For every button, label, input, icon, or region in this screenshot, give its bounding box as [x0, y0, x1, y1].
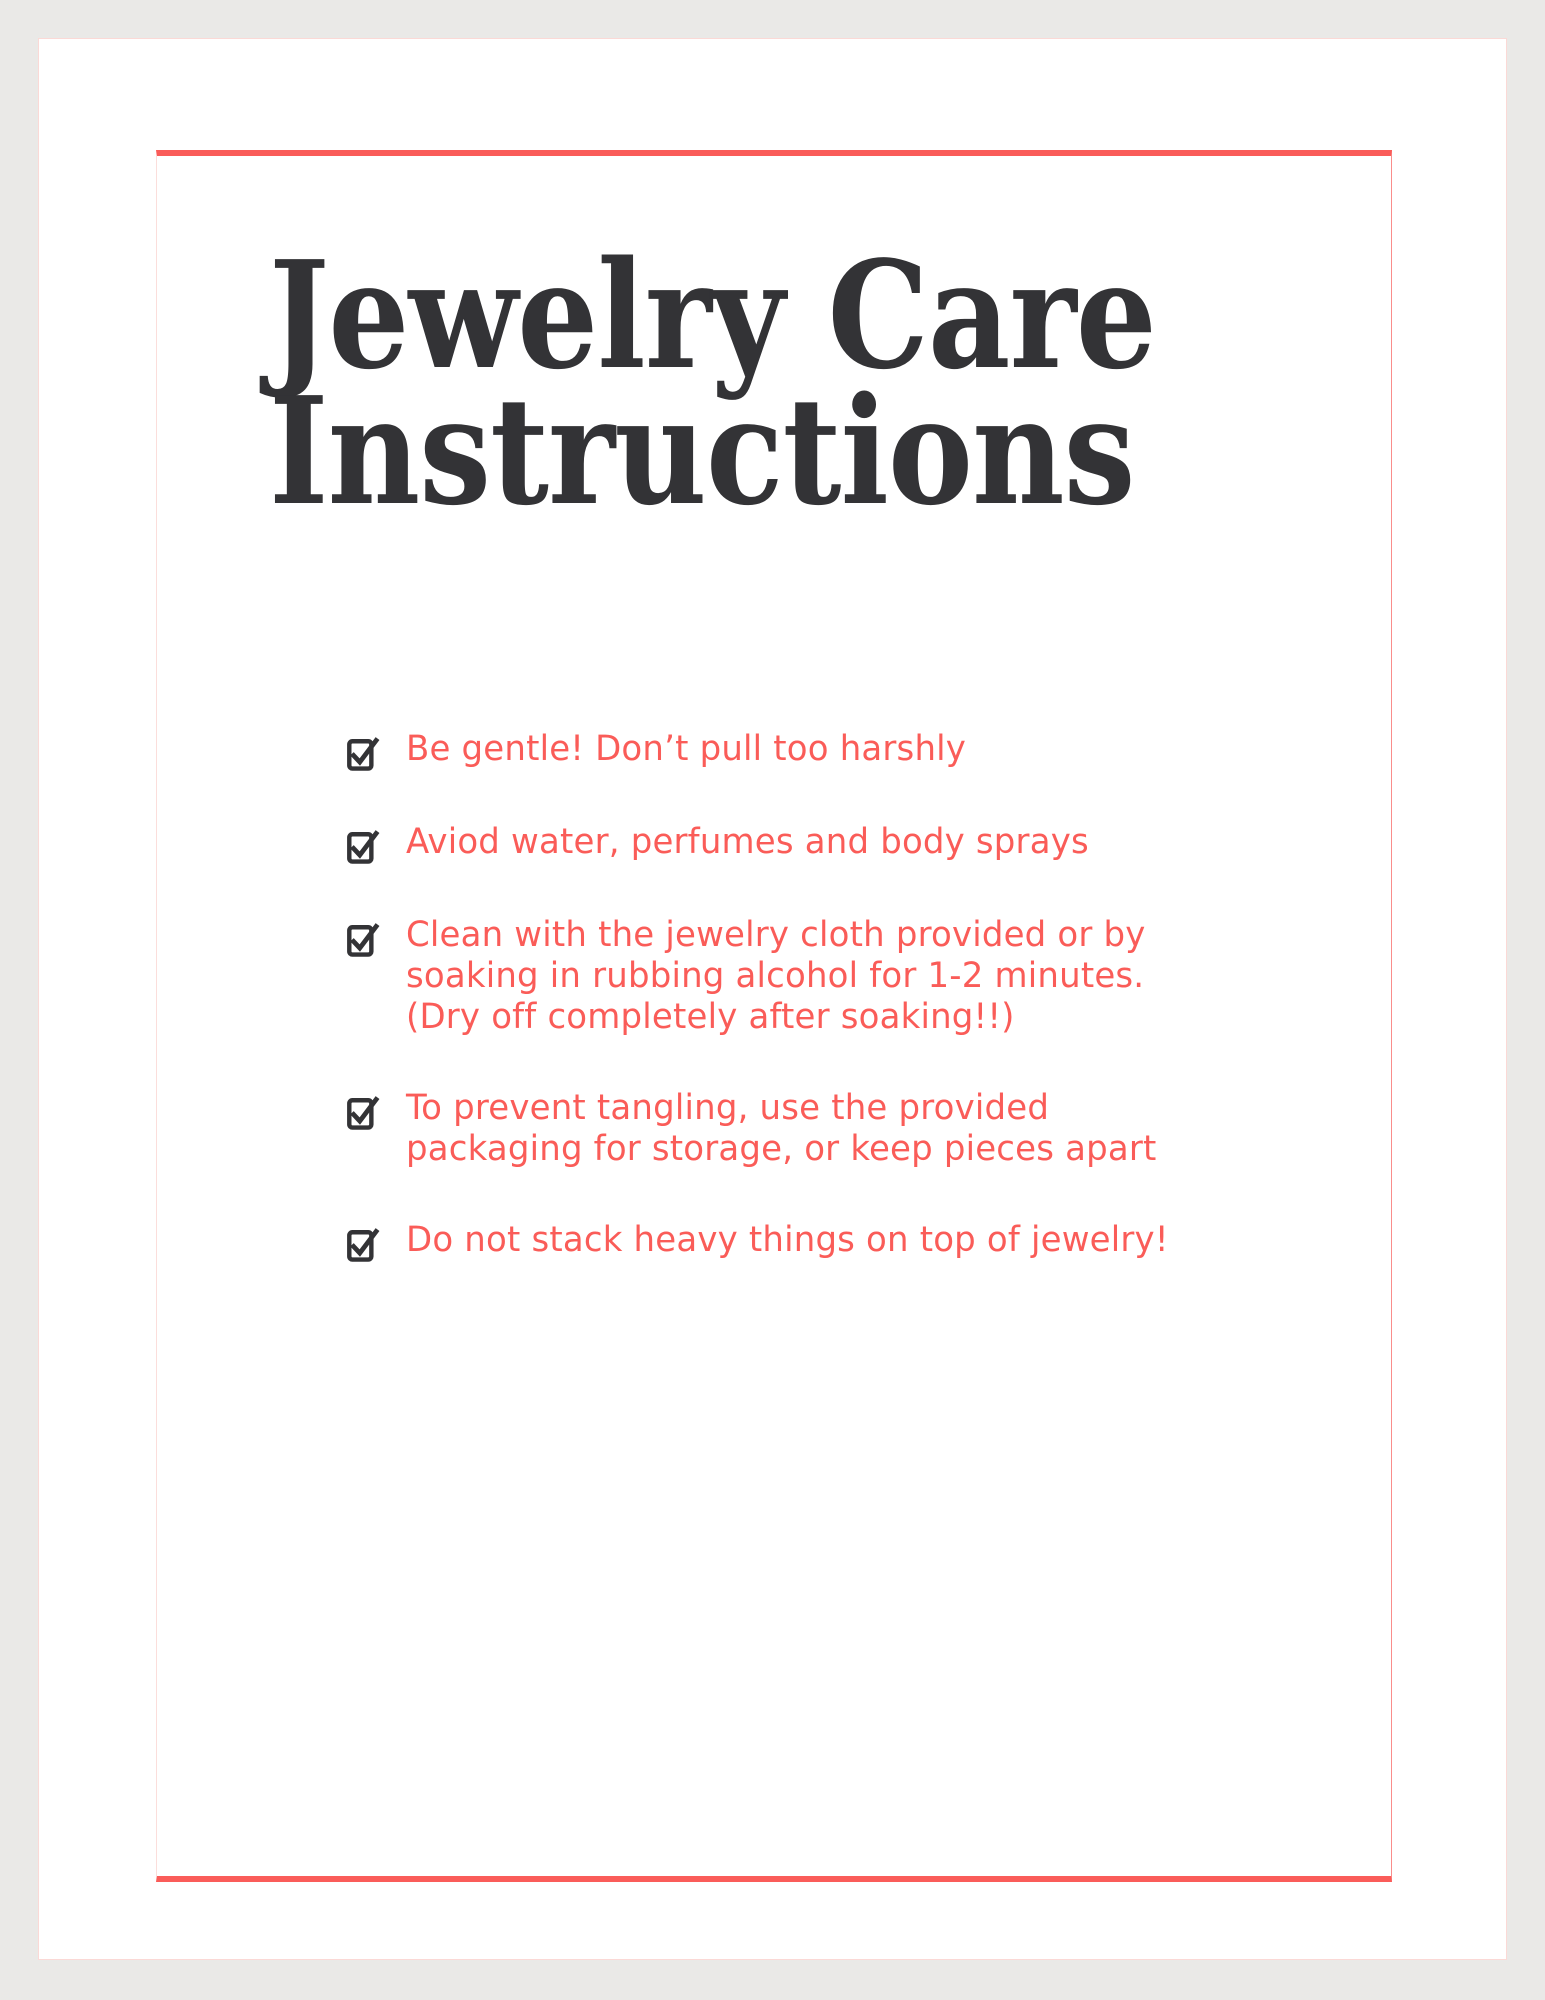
list-item: Be gentle! Don’t pull too harshly [347, 729, 1357, 772]
list-item-text: To prevent tangling, use the provided pa… [406, 1088, 1328, 1170]
list-item: Aviod water, perfumes and body sprays [347, 822, 1357, 865]
list-item: To prevent tangling, use the provided pa… [347, 1088, 1357, 1170]
page-sheet: Jewelry Care Instructions Be gentle! Don… [38, 38, 1507, 1960]
checked-checkbox-icon [347, 1229, 377, 1263]
list-item: Clean with the jewelry cloth provided or… [347, 915, 1357, 1038]
list-item-text: Do not stack heavy things on top of jewe… [406, 1220, 1328, 1261]
page-title: Jewelry Care Instructions [269, 247, 1181, 519]
care-instructions-list: Be gentle! Don’t pull too harshly Aviod … [347, 729, 1357, 1263]
checked-checkbox-icon [347, 924, 377, 958]
list-item-text: Be gentle! Don’t pull too harshly [406, 729, 1328, 770]
checked-checkbox-icon [347, 831, 377, 865]
list-item-text: Aviod water, perfumes and body sprays [406, 822, 1328, 863]
list-item-text: Clean with the jewelry cloth provided or… [406, 915, 1328, 1038]
checked-checkbox-icon [347, 738, 377, 772]
checked-checkbox-icon [347, 1097, 377, 1131]
list-item: Do not stack heavy things on top of jewe… [347, 1220, 1357, 1263]
title-block: Jewelry Care Instructions [269, 247, 1329, 519]
